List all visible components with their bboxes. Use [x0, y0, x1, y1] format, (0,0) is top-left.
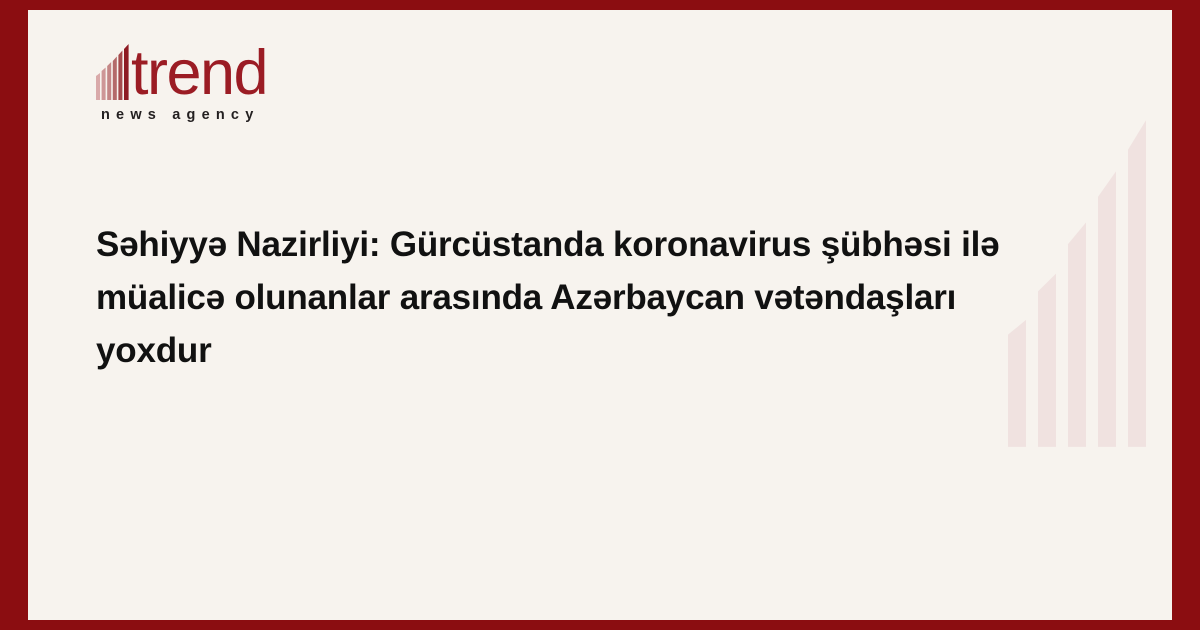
brand-wordmark: trend [131, 44, 267, 102]
brand-tagline: news agency [101, 107, 296, 123]
ascending-bars-icon [96, 42, 130, 100]
brand-logo: trend news agency [96, 38, 296, 123]
brand-logo-mark: trend [96, 38, 296, 100]
article-headline: Səhiyyə Nazirliyi: Gürcüstanda koronavir… [96, 218, 1016, 377]
ascending-bars-watermark-icon [1004, 10, 1172, 620]
share-card: trend news agency Səhiyyə Nazirliyi: Gür… [0, 0, 1200, 630]
card-canvas: trend news agency Səhiyyə Nazirliyi: Gür… [28, 10, 1172, 620]
